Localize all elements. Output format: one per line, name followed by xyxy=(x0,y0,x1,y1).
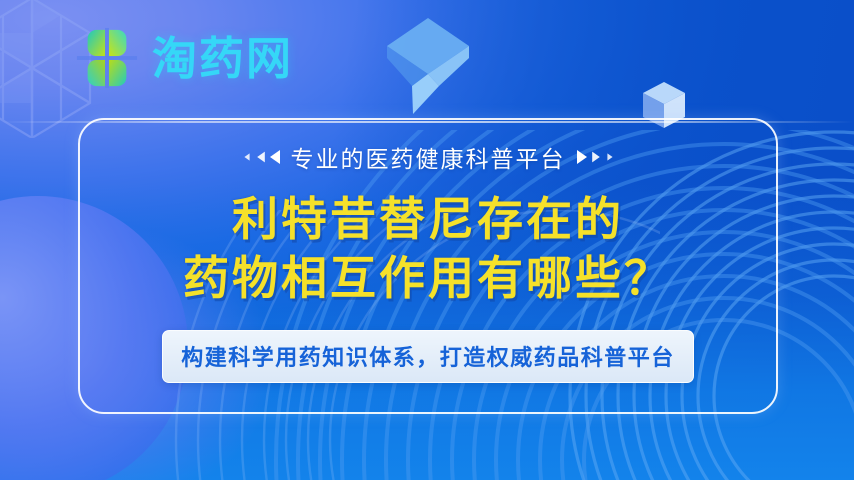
subtitle-badge: 构建科学用药知识体系，打造权威药品科普平台 xyxy=(162,330,694,383)
promo-banner: 淘药网 专业的医药健康科普平台 利特昔替尼存在的 药物相互作用有哪些？ 构建科学… xyxy=(0,0,854,480)
title-line-1: 利特昔替尼存在的 xyxy=(183,190,673,249)
triangle-left-decor-icon xyxy=(242,150,280,164)
medical-cross-petal-icon xyxy=(76,27,138,89)
banner-content: 专业的医药健康科普平台 利特昔替尼存在的 药物相互作用有哪些？ 构建科学用药知识… xyxy=(78,118,778,414)
title-line-2: 药物相互作用有哪些？ xyxy=(183,249,673,308)
banner-title: 利特昔替尼存在的 药物相互作用有哪些？ xyxy=(183,190,673,308)
isometric-diamond-icon xyxy=(383,14,473,119)
site-logo-text: 淘药网 xyxy=(152,36,293,81)
tagline-row: 专业的医药健康科普平台 xyxy=(242,140,615,174)
triangle-right-decor-icon xyxy=(577,150,615,164)
site-logo[interactable]: 淘药网 xyxy=(76,27,293,89)
tagline-text: 专业的医药健康科普平台 xyxy=(291,140,566,174)
